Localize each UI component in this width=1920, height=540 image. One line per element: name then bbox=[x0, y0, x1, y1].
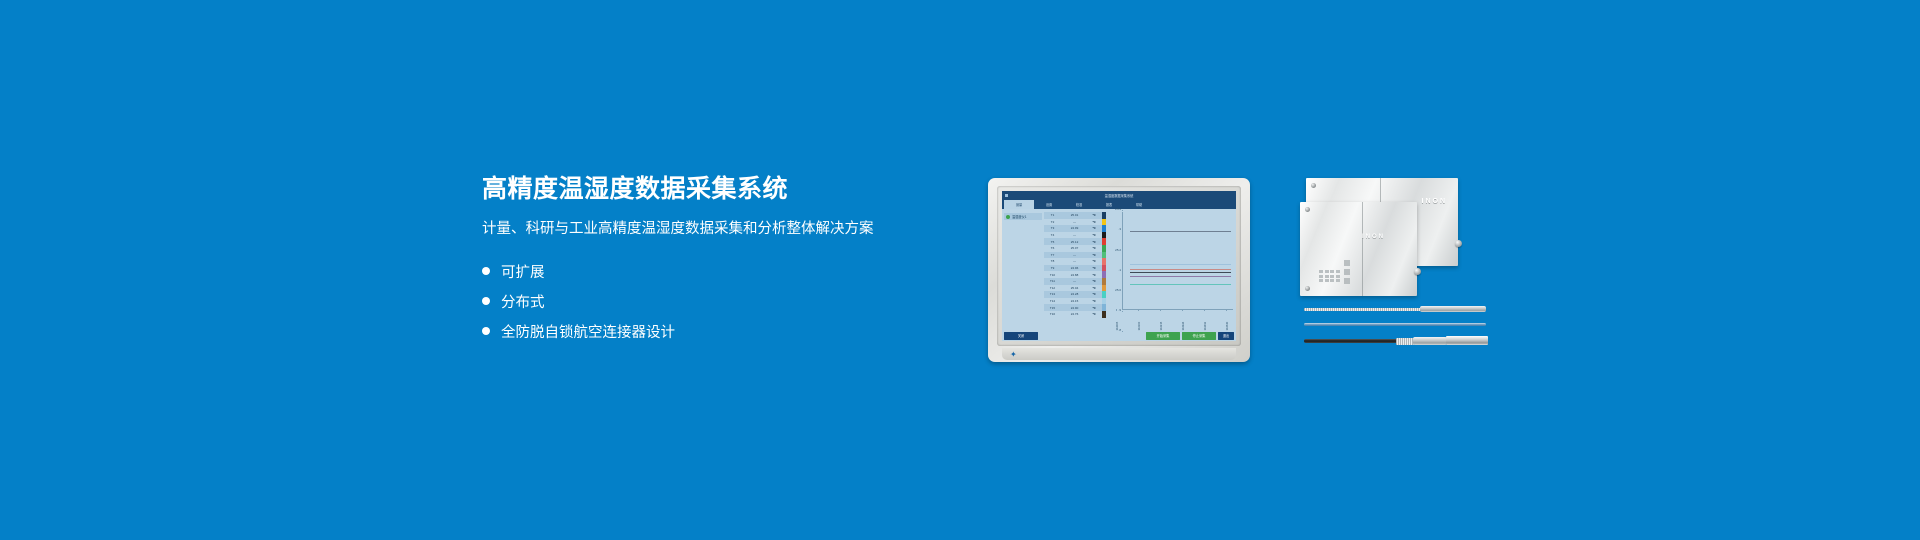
table-cell: 25.01 bbox=[1061, 213, 1088, 217]
table-cell: 25.12 bbox=[1061, 240, 1088, 244]
table-cell: ℃ bbox=[1088, 246, 1100, 250]
data-logger-enclosure-front: INON bbox=[1300, 202, 1417, 296]
aviation-connector-probe bbox=[1304, 336, 1486, 345]
table-row[interactable]: T1624.76℃ bbox=[1044, 311, 1102, 318]
table-row[interactable]: T1524.90℃ bbox=[1044, 304, 1102, 311]
tab-calibration[interactable]: 校准 bbox=[1064, 200, 1094, 209]
chart-y-tick-label: 25.2 bbox=[1106, 248, 1121, 252]
chart-x-tick bbox=[1204, 309, 1205, 311]
tree-node-device[interactable]: 温湿度仪1 bbox=[1004, 213, 1042, 220]
chart-series-line bbox=[1130, 264, 1231, 265]
table-row[interactable]: T125.01℃ bbox=[1044, 212, 1102, 219]
table-row[interactable]: T625.07℃ bbox=[1044, 245, 1102, 252]
table-row[interactable]: T7---℃ bbox=[1044, 252, 1102, 259]
table-cell: T3 bbox=[1044, 226, 1061, 230]
table-row[interactable]: T2---℃ bbox=[1044, 219, 1102, 226]
table-cell: --- bbox=[1061, 220, 1088, 224]
page-subtitle: 计量、科研与工业高精度温湿度数据采集和分析整体解决方案 bbox=[482, 219, 1002, 239]
table-cell: --- bbox=[1061, 233, 1088, 237]
chart-x-tick-label: 10:23:24 bbox=[1182, 322, 1185, 331]
table-row[interactable]: T8---℃ bbox=[1044, 258, 1102, 265]
table-cell: --- bbox=[1061, 259, 1088, 263]
table-cell: 24.88 bbox=[1061, 273, 1088, 277]
table-row[interactable]: T1324.28℃ bbox=[1044, 291, 1102, 298]
table-cell: ℃ bbox=[1088, 259, 1100, 263]
chart-series-line bbox=[1130, 231, 1231, 232]
chart-x-tick-label: 10:25:40 bbox=[1226, 322, 1229, 331]
chart-y-tick-label: 25.0 bbox=[1106, 288, 1121, 292]
table-cell: 24.96 bbox=[1061, 266, 1088, 270]
chart-x-tick-label: 10:20:05 bbox=[1116, 322, 1119, 331]
feature-label: 全防脱自锁航空连接器设计 bbox=[501, 321, 675, 342]
bullet-dot-icon bbox=[482, 297, 490, 305]
monitor-base bbox=[1002, 348, 1236, 360]
monitor-inner-bezel: 温湿度数据采集系统 测量 设置 校准 报表 帮助 温湿度仪1 bbox=[997, 186, 1241, 346]
window-title: 温湿度数据采集系统 bbox=[1105, 193, 1134, 198]
list-item: 可扩展 bbox=[482, 256, 1002, 286]
list-item: 全防脱自锁航空连接器设计 bbox=[482, 316, 1002, 346]
workspace: 温湿度仪1 T125.01℃T2---℃T324.99℃T4---℃T525.1… bbox=[1002, 209, 1236, 330]
chart-y-tick bbox=[1122, 230, 1124, 231]
terminal-block-grid bbox=[1319, 270, 1340, 282]
table-cell: T5 bbox=[1044, 240, 1061, 244]
table-cell: ℃ bbox=[1088, 253, 1100, 257]
enclosure-seam bbox=[1362, 202, 1363, 296]
table-cell: ℃ bbox=[1088, 279, 1100, 283]
table-cell: ℃ bbox=[1088, 273, 1100, 277]
exit-button[interactable]: 退出 bbox=[1218, 332, 1234, 340]
stop-acquisition-button[interactable]: 停止采集 bbox=[1182, 332, 1216, 340]
table-cell: ℃ bbox=[1088, 306, 1100, 310]
chart-plot-area bbox=[1122, 212, 1233, 310]
monitor-brand-logo: ✦ bbox=[1010, 351, 1017, 358]
feature-list: 可扩展 分布式 全防脱自锁航空连接器设计 bbox=[482, 256, 1002, 346]
table-cell: T7 bbox=[1044, 253, 1061, 257]
table-cell: ℃ bbox=[1088, 266, 1100, 270]
app-titlebar: 温湿度数据采集系统 bbox=[1002, 191, 1236, 200]
table-cell: 25.04 bbox=[1061, 286, 1088, 290]
brand-label: INON bbox=[1422, 198, 1448, 205]
connector-tip bbox=[1446, 336, 1488, 345]
status-dot-icon bbox=[1006, 215, 1010, 219]
screw-icon bbox=[1305, 207, 1310, 212]
table-cell: ℃ bbox=[1088, 220, 1100, 224]
table-cell: ℃ bbox=[1088, 233, 1100, 237]
chart-series-line bbox=[1130, 284, 1231, 285]
table-cell: T16 bbox=[1044, 312, 1061, 316]
table-cell: ℃ bbox=[1088, 292, 1100, 296]
table-cell: --- bbox=[1061, 279, 1088, 283]
table-cell: T8 bbox=[1044, 259, 1061, 263]
table-cell: T6 bbox=[1044, 246, 1061, 250]
feature-label: 分布式 bbox=[501, 291, 545, 312]
start-acquisition-button[interactable]: 开始采集 bbox=[1146, 332, 1180, 340]
probe-cable bbox=[1304, 323, 1486, 326]
table-cell: T2 bbox=[1044, 220, 1061, 224]
table-cell: T10 bbox=[1044, 273, 1061, 277]
table-row[interactable]: T11---℃ bbox=[1044, 278, 1102, 285]
chart-y-tick bbox=[1122, 250, 1124, 251]
chart-series-line bbox=[1130, 276, 1231, 277]
close-button[interactable]: 关闭 bbox=[1004, 332, 1038, 340]
tree-node-label: 温湿度仪1 bbox=[1012, 214, 1027, 219]
table-row[interactable]: T324.99℃ bbox=[1044, 225, 1102, 232]
chart-y-tick-label: .1 bbox=[1106, 268, 1121, 272]
tab-settings[interactable]: 设置 bbox=[1034, 200, 1064, 209]
hardware-group: INON INON bbox=[1300, 176, 1490, 366]
chart-x-tick bbox=[1116, 309, 1117, 311]
table-row[interactable]: T1225.04℃ bbox=[1044, 285, 1102, 292]
product-banner: 高精度温湿度数据采集系统 计量、科研与工业高精度温湿度数据采集和分析整体解决方案… bbox=[0, 0, 1920, 540]
steel-sheath-probe bbox=[1304, 306, 1486, 312]
blue-cable-probe bbox=[1304, 322, 1486, 326]
screw-icon bbox=[1305, 286, 1310, 291]
table-row[interactable]: T1024.88℃ bbox=[1044, 271, 1102, 278]
tab-help[interactable]: 帮助 bbox=[1124, 200, 1154, 209]
channel-table: T125.01℃T2---℃T324.99℃T4---℃T525.12℃T625… bbox=[1044, 209, 1102, 330]
list-item: 分布式 bbox=[482, 286, 1002, 316]
tab-measure[interactable]: 测量 bbox=[1004, 200, 1034, 209]
table-cell: 24.99 bbox=[1061, 226, 1088, 230]
chart-series-line bbox=[1130, 269, 1231, 270]
port-column bbox=[1344, 260, 1350, 284]
monitor-screen: 温湿度数据采集系统 测量 设置 校准 报表 帮助 温湿度仪1 bbox=[1002, 191, 1236, 341]
table-row[interactable]: T525.12℃ bbox=[1044, 238, 1102, 245]
probe-sheath bbox=[1420, 306, 1486, 312]
chart-x-tick bbox=[1226, 309, 1227, 311]
table-cell: T4 bbox=[1044, 233, 1061, 237]
table-cell: ℃ bbox=[1088, 299, 1100, 303]
app-icon bbox=[1005, 194, 1008, 197]
chart-y-tick bbox=[1122, 291, 1124, 292]
device-tree: 温湿度仪1 bbox=[1002, 209, 1044, 330]
table-cell: ℃ bbox=[1088, 226, 1100, 230]
chart-y-tick bbox=[1122, 331, 1124, 332]
connector-body bbox=[1413, 337, 1447, 346]
table-cell: 24.15 bbox=[1061, 299, 1088, 303]
connector-port bbox=[1414, 268, 1421, 275]
chart-y-tick-label: .3 bbox=[1106, 227, 1121, 231]
chart-y-tick bbox=[1122, 210, 1124, 211]
chart-y-tick bbox=[1122, 271, 1124, 272]
table-cell: ℃ bbox=[1088, 213, 1100, 217]
copy-block: 高精度温湿度数据采集系统 计量、科研与工业高精度温湿度数据采集和分析整体解决方案… bbox=[482, 174, 1002, 346]
feature-label: 可扩展 bbox=[501, 261, 545, 282]
screw-icon bbox=[1311, 183, 1316, 188]
table-cell: T15 bbox=[1044, 306, 1061, 310]
page-title: 高精度温湿度数据采集系统 bbox=[482, 174, 1002, 204]
bullet-dot-icon bbox=[482, 267, 490, 275]
chart-x-tick-label: 10:24:31 bbox=[1204, 322, 1207, 331]
table-cell: --- bbox=[1061, 253, 1088, 257]
chart-series-line bbox=[1130, 272, 1231, 273]
table-cell: ℃ bbox=[1088, 286, 1100, 290]
brand-label: INON bbox=[1362, 234, 1385, 240]
connector-port bbox=[1455, 240, 1462, 247]
bullet-dot-icon bbox=[482, 327, 490, 335]
table-cell: 24.76 bbox=[1061, 312, 1088, 316]
table-cell: ℃ bbox=[1088, 240, 1100, 244]
chart-y-tick-label: 25.4 bbox=[1106, 207, 1121, 211]
connector-knurl bbox=[1396, 338, 1414, 345]
table-cell: T14 bbox=[1044, 299, 1061, 303]
chart-y-tick bbox=[1122, 311, 1124, 312]
chart-x-tick bbox=[1138, 309, 1139, 311]
table-cell: T13 bbox=[1044, 292, 1061, 296]
table-cell: 24.28 bbox=[1061, 292, 1088, 296]
chart-x-tick bbox=[1160, 309, 1161, 311]
table-row[interactable]: T4---℃ bbox=[1044, 232, 1102, 239]
table-cell: T1 bbox=[1044, 213, 1061, 217]
panel-pc-monitor: 温湿度数据采集系统 测量 设置 校准 报表 帮助 温湿度仪1 bbox=[988, 178, 1250, 362]
table-cell: 25.07 bbox=[1061, 246, 1088, 250]
chart-x-tick bbox=[1182, 309, 1183, 311]
table-cell: T11 bbox=[1044, 279, 1061, 283]
table-cell: T9 bbox=[1044, 266, 1061, 270]
table-row[interactable]: T924.96℃ bbox=[1044, 265, 1102, 272]
chart-x-tick-label: 10:22:15 bbox=[1160, 322, 1163, 331]
trend-chart: 25.4.325.2.125.0.9.810:20:0510:21:0010:2… bbox=[1106, 209, 1236, 330]
chart-y-tick-label: .9 bbox=[1106, 308, 1121, 312]
probe-shaft bbox=[1304, 308, 1422, 311]
chart-x-tick-label: 10:21:00 bbox=[1138, 322, 1141, 331]
table-cell: ℃ bbox=[1088, 312, 1100, 316]
table-cell: T12 bbox=[1044, 286, 1061, 290]
table-cell: 24.90 bbox=[1061, 306, 1088, 310]
probe-cable bbox=[1304, 339, 1398, 343]
table-row[interactable]: T1424.15℃ bbox=[1044, 298, 1102, 305]
